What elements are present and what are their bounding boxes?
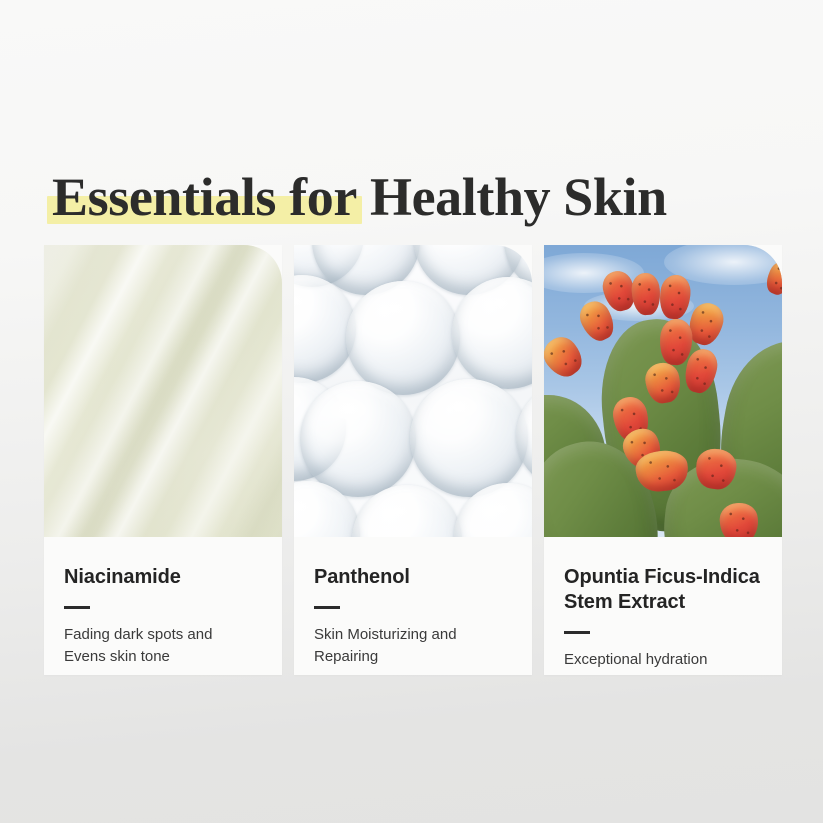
cactus-fruit [658, 274, 692, 321]
cactus-fruit [544, 331, 589, 383]
title-divider [64, 606, 90, 609]
title-divider [314, 606, 340, 609]
title-divider [564, 631, 590, 634]
title-plain-text: Healthy Skin [357, 167, 667, 227]
ingredient-title: Opuntia Ficus-IndicaStem Extract [564, 565, 762, 615]
ingredient-title: Panthenol [314, 565, 512, 590]
cactus-photo-graphic [544, 245, 782, 537]
ingredient-description: Fading dark spots and Evens skin tone [64, 624, 254, 668]
infographic-page: Essentials for Healthy Skin Niacinamide … [0, 0, 823, 823]
ingredient-card-niacinamide[interactable]: Niacinamide Fading dark spots and Evens … [44, 245, 282, 675]
page-title: Essentials for Healthy Skin [52, 128, 782, 200]
niacinamide-cream-texture-image [44, 245, 282, 537]
card-body: Panthenol Skin Moisturizing and Repairin… [294, 537, 532, 675]
panthenol-gel-bubbles-image [294, 245, 532, 537]
bubble-shape [346, 281, 460, 395]
title-highlight: Essentials for [52, 164, 357, 230]
ingredient-description: Skin Moisturizing and Repairing [314, 624, 504, 668]
ingredient-card-opuntia[interactable]: Opuntia Ficus-IndicaStem Extract Excepti… [544, 245, 782, 675]
ingredient-card-panthenol[interactable]: Panthenol Skin Moisturizing and Repairin… [294, 245, 532, 675]
card-body: Opuntia Ficus-IndicaStem Extract Excepti… [544, 537, 782, 675]
page-title-text: Essentials for Healthy Skin [52, 164, 667, 230]
ingredient-card-list: Niacinamide Fading dark spots and Evens … [44, 245, 782, 675]
ingredient-title-line1: Opuntia Ficus-Indica [564, 566, 760, 588]
card-body: Niacinamide Fading dark spots and Evens … [44, 537, 282, 675]
title-highlighted-text: Essentials for [52, 167, 357, 227]
ingredient-title-line1: Panthenol [314, 566, 410, 588]
gel-bubbles-graphic [294, 245, 532, 537]
bubble-shape [300, 381, 416, 497]
ingredient-title-line1: Niacinamide [64, 566, 181, 588]
bubble-shape [516, 383, 532, 489]
opuntia-cactus-image [544, 245, 782, 537]
ingredient-title-line2: Stem Extract [564, 590, 762, 615]
bubble-shape [410, 379, 528, 497]
cream-texture-graphic [44, 245, 282, 537]
ingredient-description: Exceptional hydration [564, 649, 754, 671]
ingredient-title: Niacinamide [64, 565, 262, 590]
